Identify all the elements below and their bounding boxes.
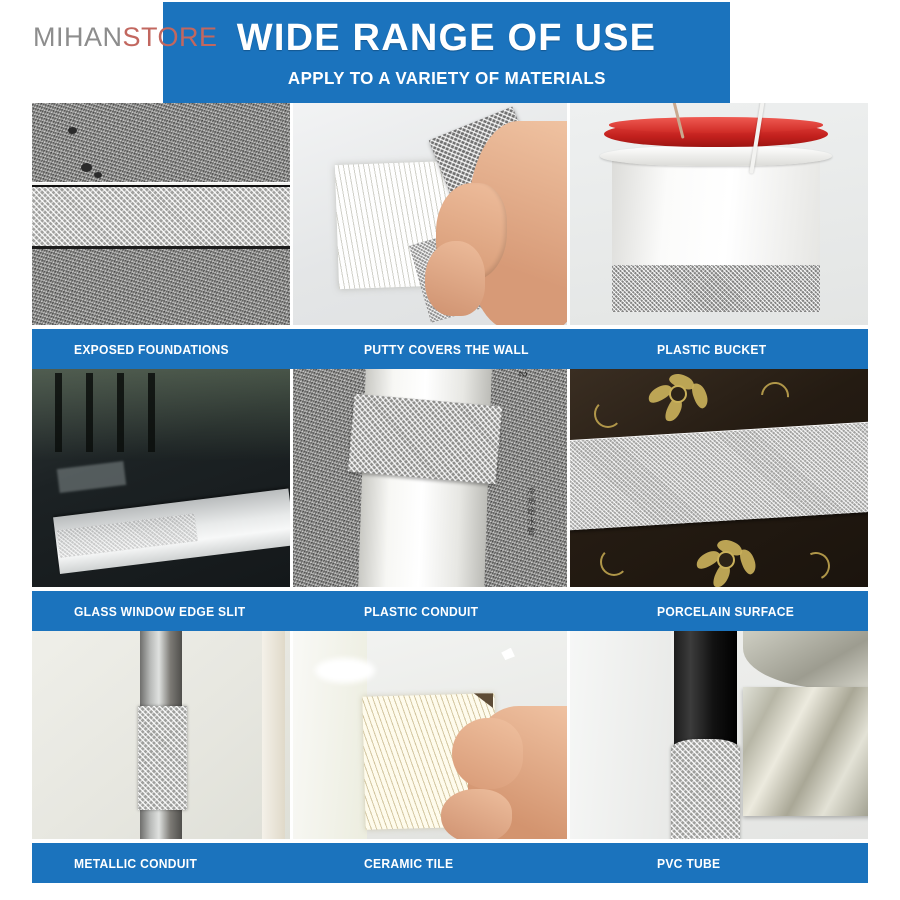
grid-row-3: METALLIC CONDUIT CERAMIC TILE PVC TUBE bbox=[32, 631, 868, 883]
header-banner: WIDE RANGE OF USE APPLY TO A VARIETY OF … bbox=[163, 2, 730, 103]
light-reflection bbox=[315, 658, 375, 683]
caption-pvc-tube: PVC TUBE bbox=[657, 856, 720, 871]
photo-cell-plastic-conduit: 冷热给水管 2 bbox=[293, 369, 567, 587]
plastic-bucket-photo bbox=[570, 103, 868, 325]
caption-bar-row-1: EXPOSED FOUNDATIONS PUTTY COVERS THE WAL… bbox=[32, 329, 868, 369]
waterproof-tape-strip bbox=[32, 183, 290, 249]
gold-vine-curl bbox=[600, 548, 628, 576]
bucket-lid-top bbox=[609, 117, 824, 133]
tape-shadow-line bbox=[32, 246, 290, 249]
photo-cell-exposed-foundations bbox=[32, 103, 290, 325]
railing-bar bbox=[148, 373, 155, 451]
photo-cell-ceramic-tile bbox=[293, 631, 567, 839]
foil-sheet bbox=[743, 687, 868, 816]
grid-row-2: 冷热给水管 2 bbox=[32, 369, 868, 631]
railing-bar bbox=[86, 373, 93, 451]
page-subtitle: APPLY TO A VARIETY OF MATERIALS bbox=[288, 70, 606, 88]
concrete-wall-photo bbox=[32, 103, 290, 325]
white-wall bbox=[570, 631, 671, 839]
putty-wall-photo bbox=[293, 103, 567, 325]
thumb bbox=[452, 718, 523, 789]
ceramic-tile-photo bbox=[293, 631, 567, 839]
window-reflection bbox=[32, 369, 290, 461]
finger bbox=[425, 241, 485, 316]
caption-glass-window-edge-slit: GLASS WINDOW EDGE SLIT bbox=[74, 604, 245, 619]
caption-plastic-conduit: PLASTIC CONDUIT bbox=[364, 604, 478, 619]
product-infographic: MIHANSTORE WIDE RANGE OF USE APPLY TO A … bbox=[0, 0, 900, 900]
metallic-conduit-photo bbox=[32, 631, 290, 839]
photo-cell-putty-covers-wall bbox=[293, 103, 567, 325]
bucket-rim bbox=[600, 146, 832, 166]
photo-cell-plastic-bucket bbox=[570, 103, 868, 325]
brand-logo-part2: STORE bbox=[123, 22, 218, 52]
caption-plastic-bucket: PLASTIC BUCKET bbox=[657, 342, 766, 357]
caption-porcelain-surface: PORCELAIN SURFACE bbox=[657, 604, 794, 619]
caption-exposed-foundations: EXPOSED FOUNDATIONS bbox=[74, 342, 229, 357]
grid-row-1: EXPOSED FOUNDATIONS PUTTY COVERS THE WAL… bbox=[32, 103, 868, 369]
railing-bar bbox=[55, 373, 62, 451]
brand-logo-part1: MIHAN bbox=[33, 22, 123, 52]
photo-cell-porcelain-surface bbox=[570, 369, 868, 587]
caption-bar-row-3: METALLIC CONDUIT CERAMIC TILE PVC TUBE bbox=[32, 843, 868, 883]
wall-blemish bbox=[94, 172, 102, 178]
wall-edge bbox=[262, 631, 285, 839]
tape-band bbox=[612, 265, 821, 312]
porcelain-tile-photo bbox=[570, 369, 868, 587]
pvc-tube-photo bbox=[570, 631, 868, 839]
wall-blemish bbox=[68, 127, 77, 134]
pipe-marking-top: 2 bbox=[517, 371, 529, 377]
railing-bar bbox=[117, 373, 124, 451]
page-title: WIDE RANGE OF USE bbox=[237, 19, 656, 57]
finger bbox=[441, 789, 512, 839]
tape-wrap bbox=[138, 706, 187, 810]
photo-cell-glass-window-edge-slit bbox=[32, 369, 290, 587]
brand-logo: MIHANSTORE bbox=[33, 22, 218, 53]
gold-vine-curl bbox=[594, 400, 622, 428]
caption-putty-covers-wall: PUTTY COVERS THE WALL bbox=[364, 342, 529, 357]
tape-strip bbox=[570, 423, 868, 531]
photo-cell-pvc-tube bbox=[570, 631, 868, 839]
glass-window-photo bbox=[32, 369, 290, 587]
caption-bar-row-2: GLASS WINDOW EDGE SLIT PLASTIC CONDUIT P… bbox=[32, 591, 868, 631]
caption-ceramic-tile: CERAMIC TILE bbox=[364, 856, 453, 871]
plastic-conduit-photo: 冷热给水管 2 bbox=[293, 369, 567, 587]
tape-wrap bbox=[347, 393, 501, 484]
photo-cell-metallic-conduit bbox=[32, 631, 290, 839]
wall-blemish bbox=[81, 163, 92, 172]
tape-wrap bbox=[671, 739, 740, 839]
caption-metallic-conduit: METALLIC CONDUIT bbox=[74, 856, 197, 871]
use-case-grid: EXPOSED FOUNDATIONS PUTTY COVERS THE WAL… bbox=[32, 103, 868, 893]
pipe-marking: 冷热给水管 bbox=[526, 487, 537, 537]
